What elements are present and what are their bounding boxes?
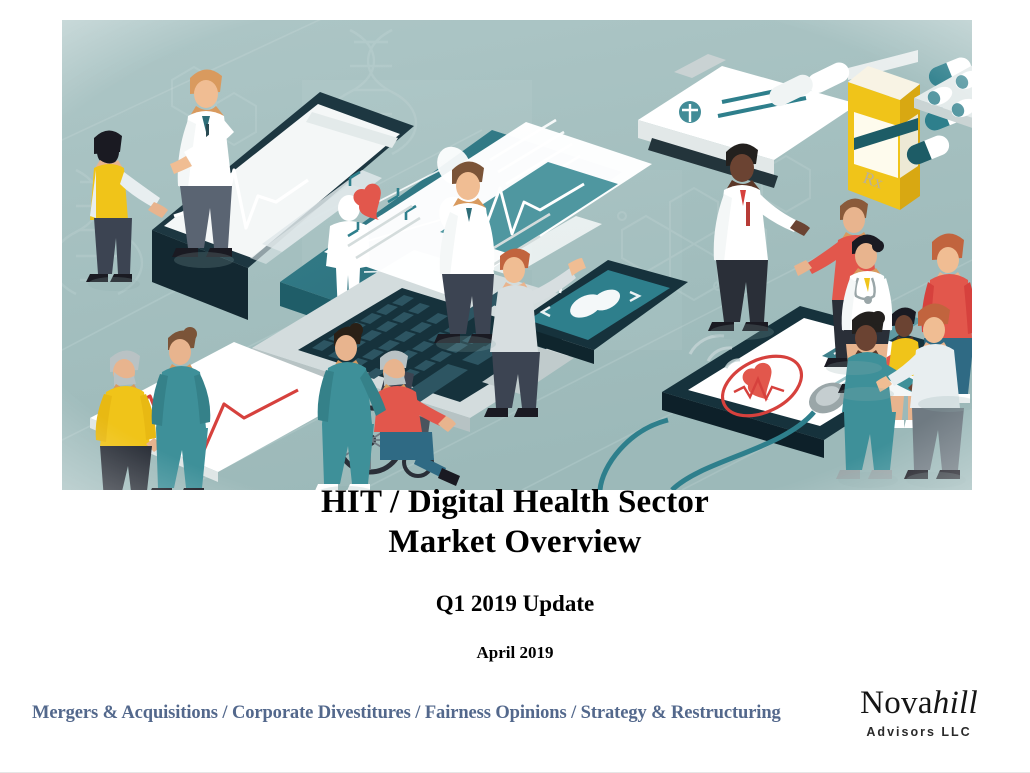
title-line-1: HIT / Digital Health Sector	[321, 484, 709, 520]
footer: Mergers & Acquisitions / Corporate Dives…	[0, 678, 1030, 748]
date-label: April 2019	[0, 642, 1030, 664]
hero-illustration-fade-mask: Rx	[62, 20, 972, 490]
hero-illustration: Rx	[62, 20, 972, 490]
title-block: HIT / Digital Health Sector Market Overv…	[0, 482, 1030, 664]
logo-wordmark: Novahill	[860, 687, 978, 720]
slide-root: Rx	[0, 0, 1030, 772]
page-title: HIT / Digital Health Sector Market Overv…	[0, 482, 1030, 562]
logo-wordmark-italic: hill	[933, 685, 978, 721]
title-line-2: Market Overview	[388, 524, 641, 560]
logo-subtitle: Advisors LLC	[860, 726, 978, 739]
isometric-digital-health-scene: Rx	[62, 20, 972, 490]
services-tagline: Mergers & Acquisitions / Corporate Dives…	[32, 703, 781, 724]
novahill-logo: Novahill Advisors LLC	[860, 687, 1000, 739]
logo-wordmark-regular: Nova	[860, 685, 933, 721]
caduceus-icon	[679, 101, 701, 123]
subtitle: Q1 2019 Update	[0, 590, 1030, 618]
